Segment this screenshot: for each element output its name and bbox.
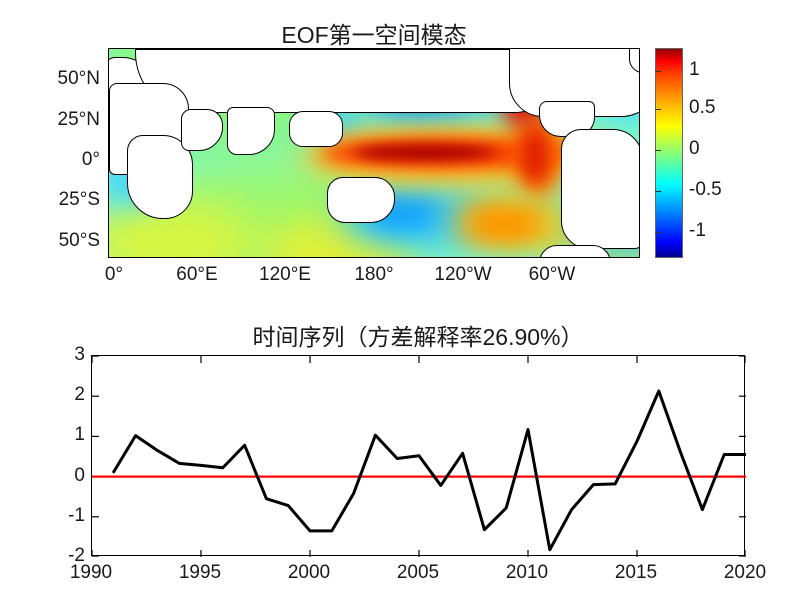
ts-ytick-label: 0 (0, 465, 85, 487)
landmass-seasia (289, 111, 343, 147)
colorbar-tick (655, 232, 661, 233)
landmass-india (227, 107, 275, 155)
landmass-south-america (561, 129, 640, 249)
eof-spatial-map (108, 48, 640, 258)
map-xtick-label: 120°E (259, 264, 311, 286)
ts-xtick-label: 1995 (179, 562, 221, 584)
ts-ytick-label: 1 (0, 424, 85, 446)
field-blob-warm (521, 129, 549, 184)
landmass-australia (327, 177, 395, 223)
ts-ytick-label: 3 (0, 344, 85, 366)
map-xtick-label: 60°E (176, 264, 217, 286)
map-ytick-label: 25°N (0, 109, 100, 131)
map-ytick-label: 0° (0, 149, 100, 171)
ts-ytick-label: -1 (0, 505, 85, 527)
colorbar-label: 0 (689, 138, 700, 160)
colorbar-tick (655, 71, 661, 72)
ts-xtick-label: 1990 (70, 562, 112, 584)
colorbar-tick (655, 191, 661, 192)
colorbar-label: 0.5 (689, 97, 715, 119)
field-blob-warm (354, 145, 494, 160)
colorbar-label: -1 (689, 220, 706, 242)
field-blob-warm (469, 209, 539, 239)
map-ytick-label: 50°S (0, 230, 100, 252)
timeseries-title: 时间序列（方差解释率26.90%） (91, 318, 745, 352)
ts-xtick-label: 2005 (397, 562, 439, 584)
eof-contour-field (109, 49, 639, 257)
colorbar-label: -0.5 (689, 179, 722, 201)
ts-xtick-label: 2015 (615, 562, 657, 584)
ts-xtick-label: 2020 (724, 562, 766, 584)
colorbar-label: 1 (689, 59, 700, 81)
map-xtick-label: 60°W (529, 264, 576, 286)
colorbar (655, 48, 683, 258)
map-xtick-label: 0° (105, 264, 123, 286)
timeseries-svg (92, 356, 746, 557)
timeseries-plot (91, 355, 745, 556)
map-xtick-label: 180° (354, 264, 393, 286)
map-xtick-label: 120°W (434, 264, 491, 286)
landmass-antarctic-edge (539, 245, 611, 258)
ts-ytick-label: 2 (0, 384, 85, 406)
map-ytick-label: 25°S (0, 189, 100, 211)
ts-xtick-label: 2000 (288, 562, 330, 584)
landmass-eurasia (135, 49, 557, 113)
map-title: EOF第一空间模态 (108, 16, 640, 50)
ts-xtick-label: 2010 (506, 562, 548, 584)
colorbar-tick (655, 150, 661, 151)
colorbar-tick (655, 109, 661, 110)
eof-figure: EOF第一空间模态 (0, 0, 796, 600)
map-ytick-label: 50°N (0, 68, 100, 90)
